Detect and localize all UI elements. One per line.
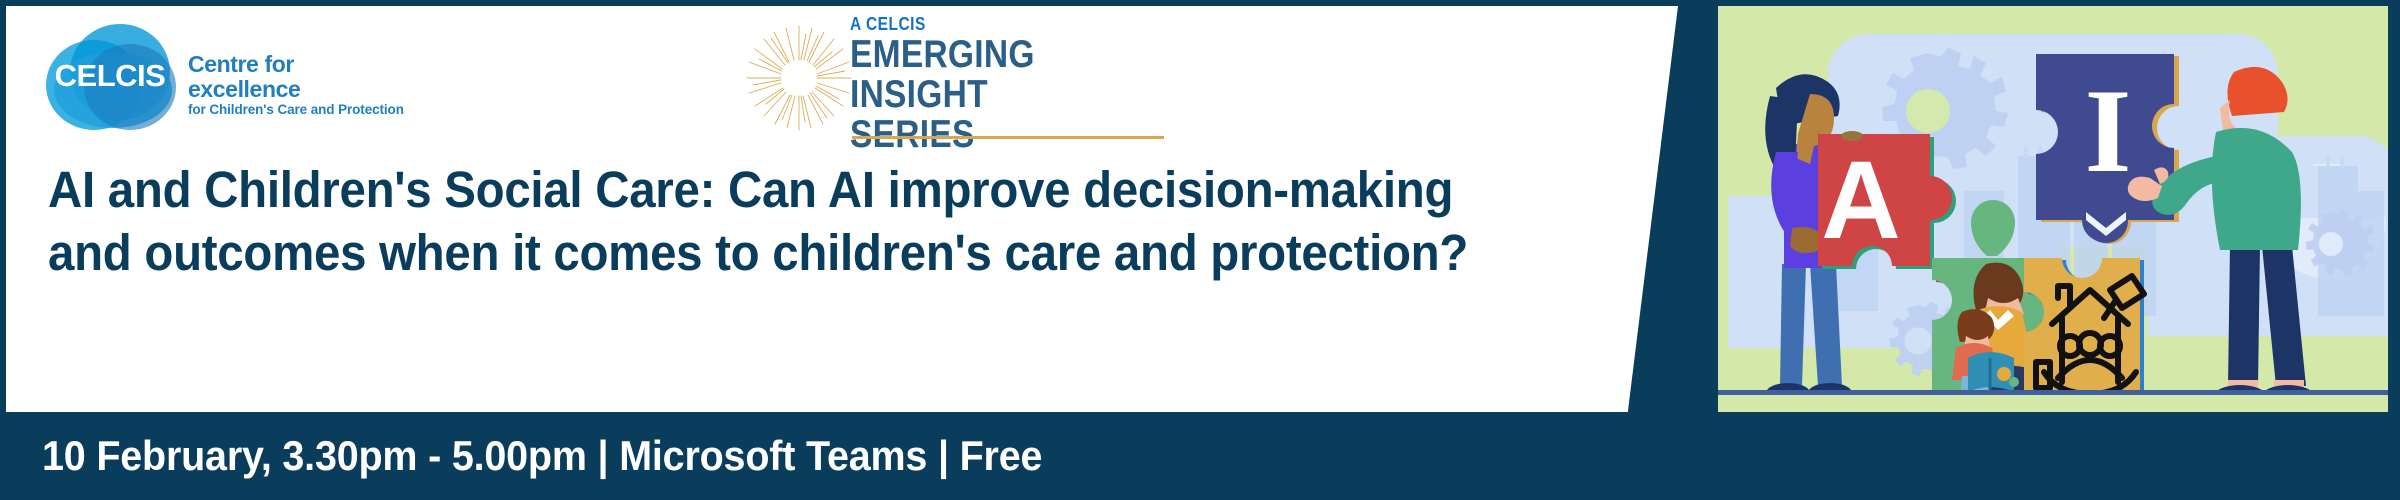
emerging-insight-series-logo[interactable]: A CELCIS EMERGING INSIGHT SERIES: [740, 14, 1160, 136]
celcis-tagline-line1: Centre for excellence: [188, 52, 410, 102]
series-logo-text: A CELCIS EMERGING INSIGHT SERIES: [850, 14, 1160, 155]
sunburst-icon: [740, 22, 858, 134]
series-line2: INSIGHT SERIES: [850, 75, 1117, 155]
logo-row: CELCIS Centre for excellence for Childre…: [0, 0, 2400, 150]
celcis-tagline-line2: for Children's Care and Protection: [188, 102, 410, 118]
piece-family-home: [2024, 258, 2144, 398]
svg-text:A: A: [1821, 139, 1900, 262]
event-details-bar: 10 February, 3.30pm - 5.00pm | Microsoft…: [0, 412, 2400, 500]
celcis-wordmark: CELCIS: [40, 22, 180, 130]
celcis-mark-icon: CELCIS: [40, 22, 180, 130]
celcis-tagline: Centre for excellence for Children's Car…: [188, 52, 410, 118]
page-title: AI and Children's Social Care: Can AI im…: [48, 158, 1499, 284]
series-underline: [852, 136, 1164, 139]
celcis-logo[interactable]: CELCIS Centre for excellence for Childre…: [40, 22, 410, 132]
series-eyebrow: A CELCIS: [850, 14, 1117, 35]
event-details-text: 10 February, 3.30pm - 5.00pm | Microsoft…: [42, 432, 1042, 480]
event-banner: A I: [0, 0, 2400, 500]
series-line1: EMERGING: [850, 35, 1117, 75]
